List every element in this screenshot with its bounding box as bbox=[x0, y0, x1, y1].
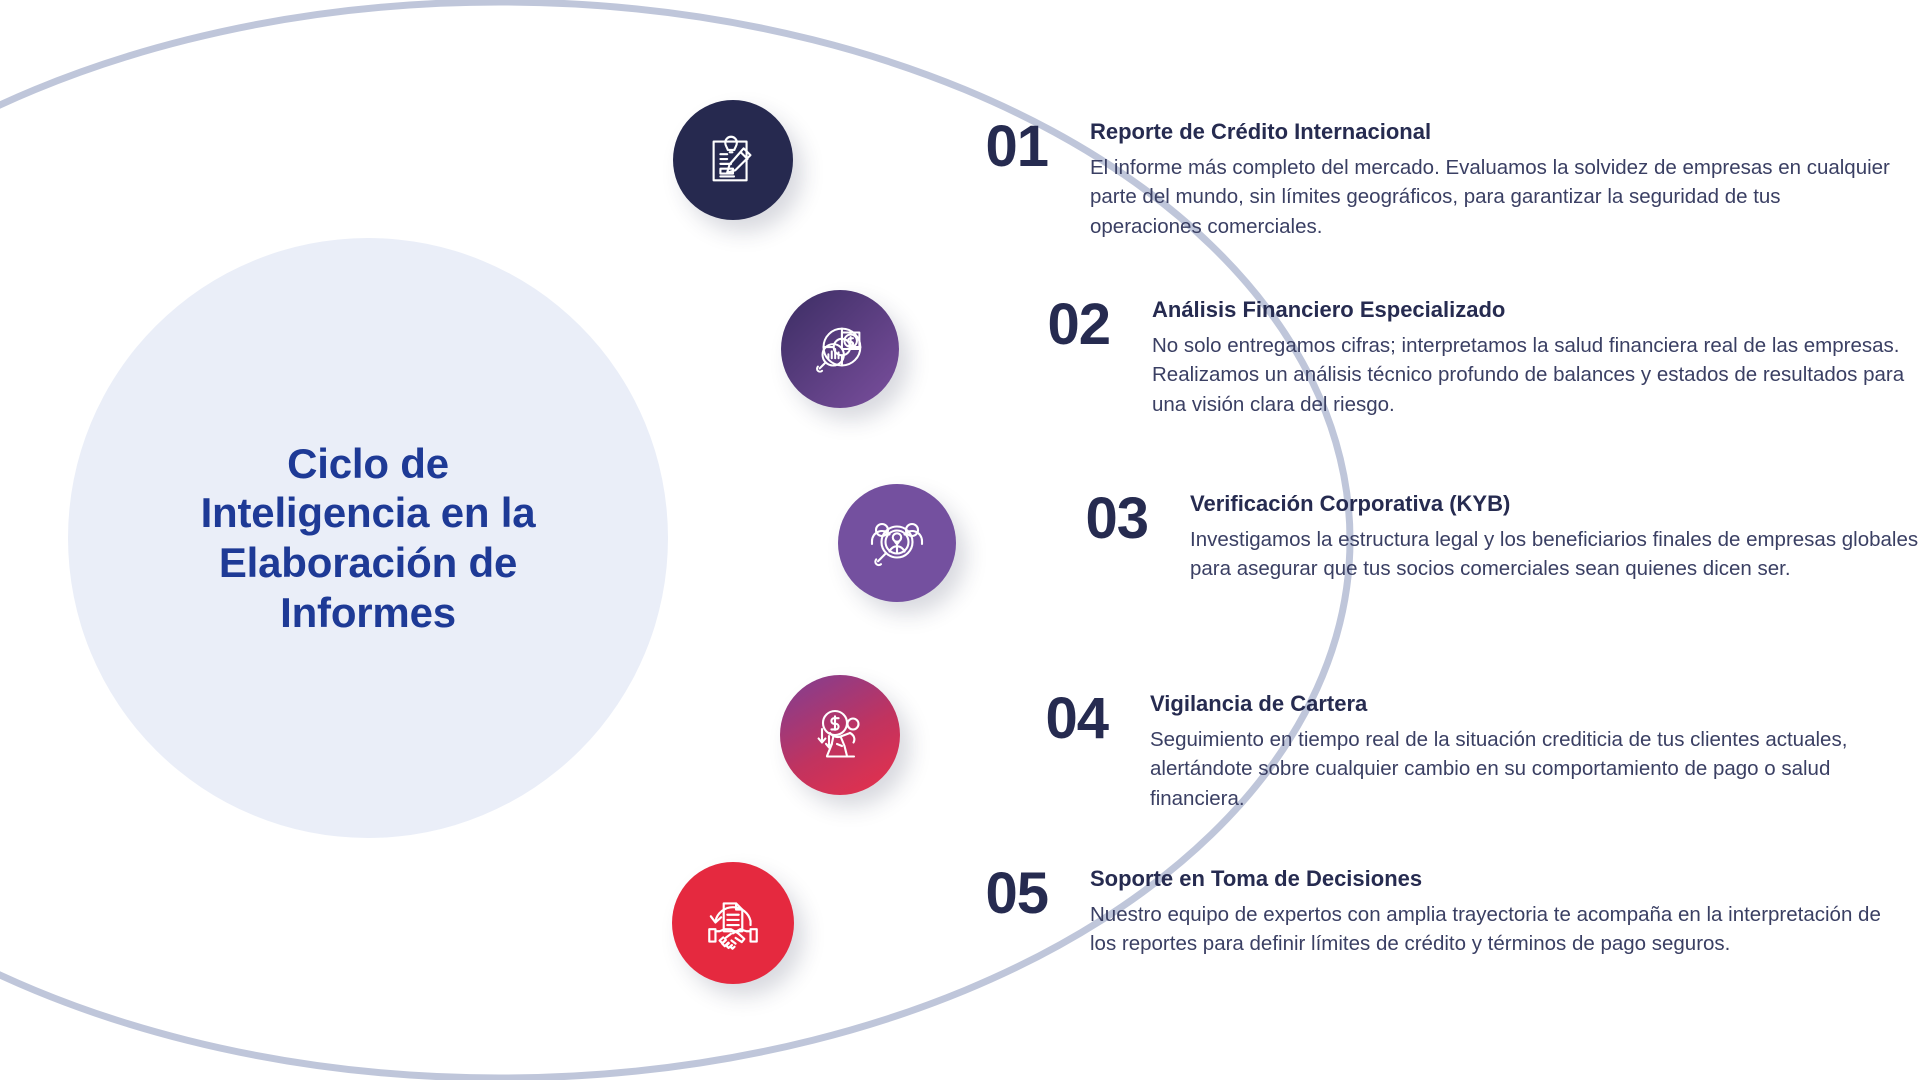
step-title-02: Análisis Financiero Especializado bbox=[1152, 296, 1912, 324]
document-lightbulb-pen-icon bbox=[702, 129, 764, 191]
step-node-02[interactable] bbox=[781, 290, 899, 408]
step-title-03: Verificación Corporativa (KYB) bbox=[1190, 490, 1920, 518]
people-magnifier-icon bbox=[865, 511, 929, 575]
step-row-04: 04 Vigilancia de Cartera Seguimiento en … bbox=[990, 690, 1915, 814]
step-number-04: 04 bbox=[990, 690, 1108, 748]
page-title: Ciclo de Inteligencia en la Elaboración … bbox=[133, 439, 603, 637]
step-row-01: 01 Reporte de Crédito Internacional El i… bbox=[930, 118, 1895, 242]
step-title-04: Vigilancia de Cartera bbox=[1150, 690, 1915, 718]
step-number-03: 03 bbox=[1030, 490, 1148, 548]
infographic-canvas: Ciclo de Inteligencia en la Elaboración … bbox=[0, 0, 1920, 1080]
step-description-01: El informe más completo del mercado. Eva… bbox=[1090, 153, 1895, 242]
person-carrying-coin-down-arrows-icon bbox=[808, 703, 872, 767]
step-description-03: Investigamos la estructura legal y los b… bbox=[1190, 525, 1920, 584]
step-description-05: Nuestro equipo de expertos con amplia tr… bbox=[1090, 900, 1890, 959]
step-number-02: 02 bbox=[992, 296, 1110, 354]
step-node-04[interactable] bbox=[780, 675, 900, 795]
step-node-01[interactable] bbox=[673, 100, 793, 220]
center-circle: Ciclo de Inteligencia en la Elaboración … bbox=[68, 238, 668, 838]
step-row-05: 05 Soporte en Toma de Decisiones Nuestro… bbox=[930, 865, 1890, 959]
step-title-01: Reporte de Crédito Internacional bbox=[1090, 118, 1895, 146]
step-row-02: 02 Análisis Financiero Especializado No … bbox=[992, 296, 1912, 420]
step-number-05: 05 bbox=[930, 865, 1048, 923]
step-description-04: Seguimiento en tiempo real de la situaci… bbox=[1150, 725, 1915, 814]
handshake-document-icon bbox=[700, 890, 766, 956]
step-node-03[interactable] bbox=[838, 484, 956, 602]
step-title-05: Soporte en Toma de Decisiones bbox=[1090, 865, 1890, 893]
step-row-03: 03 Verificación Corporativa (KYB) Invest… bbox=[1030, 490, 1920, 584]
pie-chart-dollar-magnifier-icon bbox=[809, 318, 871, 380]
step-node-05[interactable] bbox=[672, 862, 794, 984]
step-description-02: No solo entregamos cifras; interpretamos… bbox=[1152, 331, 1912, 420]
step-number-01: 01 bbox=[930, 118, 1048, 176]
